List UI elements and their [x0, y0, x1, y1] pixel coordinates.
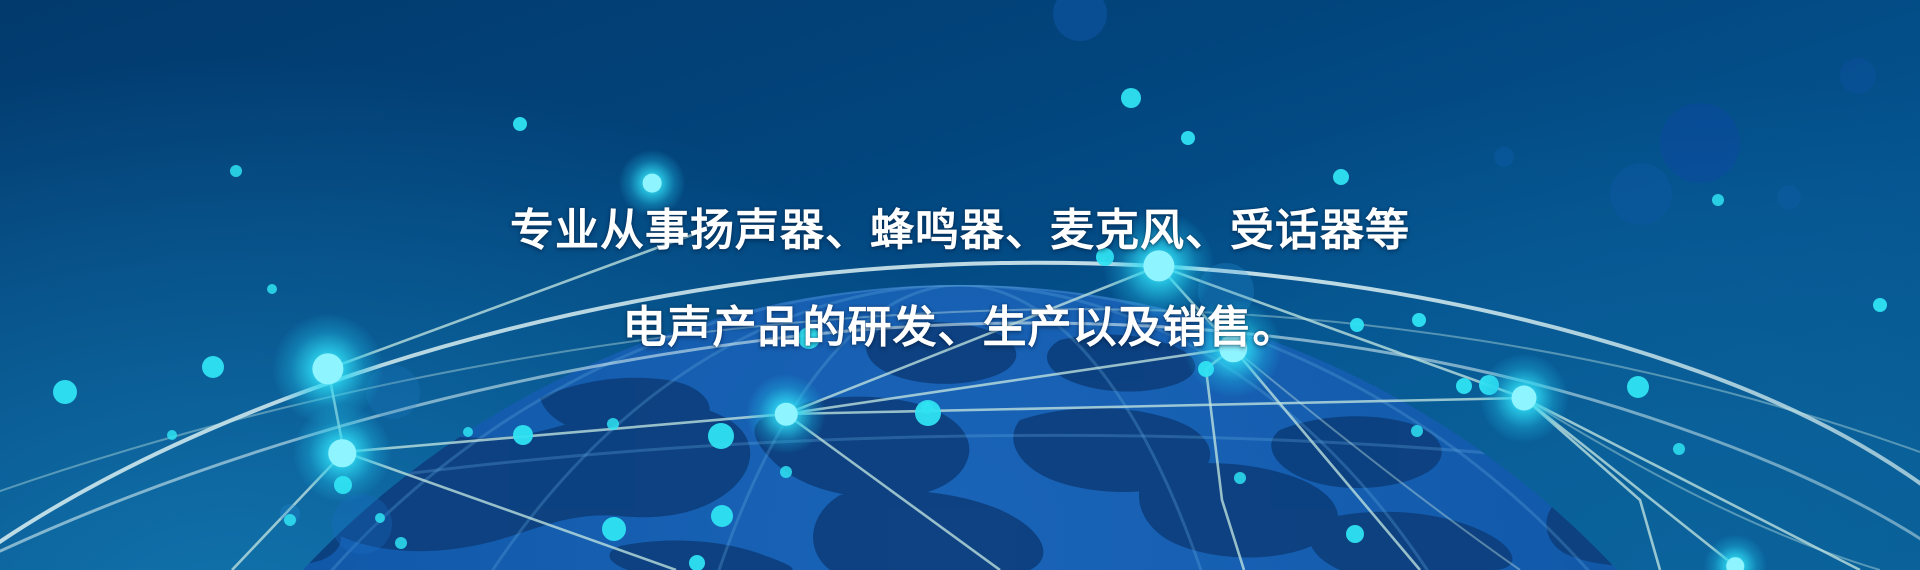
globe-svg	[0, 0, 1920, 570]
headline-line-2: 电声产品的研发、生产以及销售。	[0, 303, 1920, 353]
globe-network-graphic	[0, 0, 1920, 570]
hero-banner: 专业从事扬声器、蜂鸣器、麦克风、受话器等 电声产品的研发、生产以及销售。	[0, 0, 1920, 570]
headline-line-1: 专业从事扬声器、蜂鸣器、麦克风、受话器等	[0, 206, 1920, 256]
